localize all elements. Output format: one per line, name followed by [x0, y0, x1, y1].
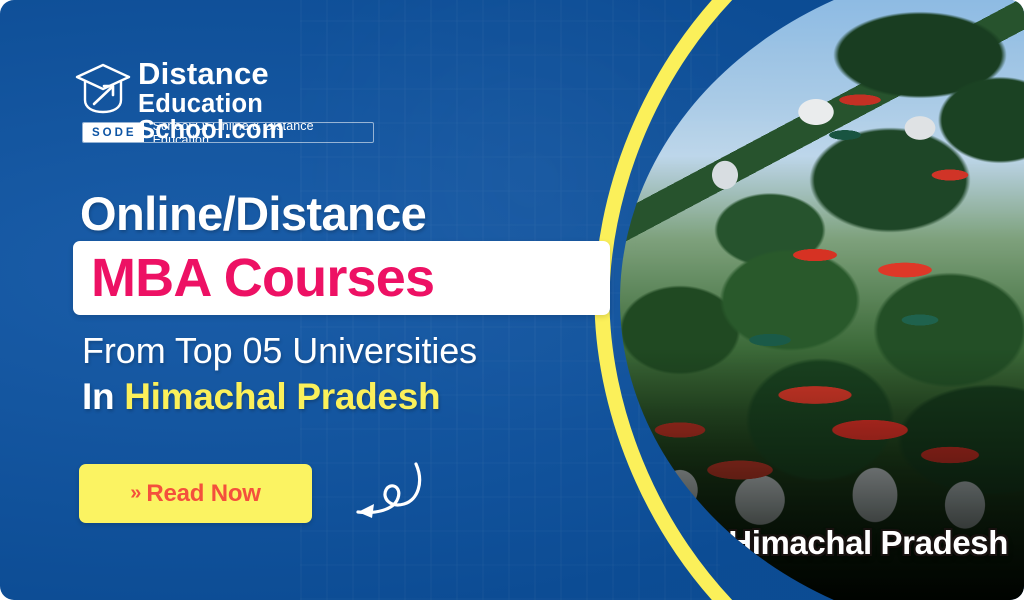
- headline-online-distance: Online/Distance: [80, 186, 426, 241]
- read-now-label: Read Now: [146, 480, 260, 508]
- sode-full-name: School Of Online & Distance Education: [144, 123, 373, 142]
- headline-mba-courses: MBA Courses: [73, 251, 434, 305]
- headline-state-prefix: In: [82, 376, 114, 417]
- chevron-right-double-icon: »: [130, 482, 138, 505]
- sode-abbreviation: SODE: [83, 123, 144, 142]
- headline-state-line: In Himachal Pradesh: [82, 376, 440, 418]
- headline-state-highlight: Himachal Pradesh: [124, 376, 440, 417]
- graduation-cap-arrow-icon: [74, 62, 132, 118]
- hillside-town-photo: [620, 0, 1024, 600]
- site-logo[interactable]: Distance Education School.com SODE Schoo…: [74, 60, 374, 142]
- headline-highlight-box: MBA Courses: [73, 241, 610, 315]
- sode-badge: SODE School Of Online & Distance Educati…: [82, 122, 374, 143]
- headline-top-universities: From Top 05 Universities: [82, 330, 477, 372]
- photo-panel: Himachal Pradesh: [620, 0, 1024, 600]
- curly-arrow-left-icon: [328, 456, 424, 534]
- logo-line-1: Distance: [138, 58, 374, 90]
- promo-banner: Himachal Pradesh Distance Education Scho…: [0, 0, 1024, 600]
- read-now-button[interactable]: » Read Now: [79, 464, 312, 523]
